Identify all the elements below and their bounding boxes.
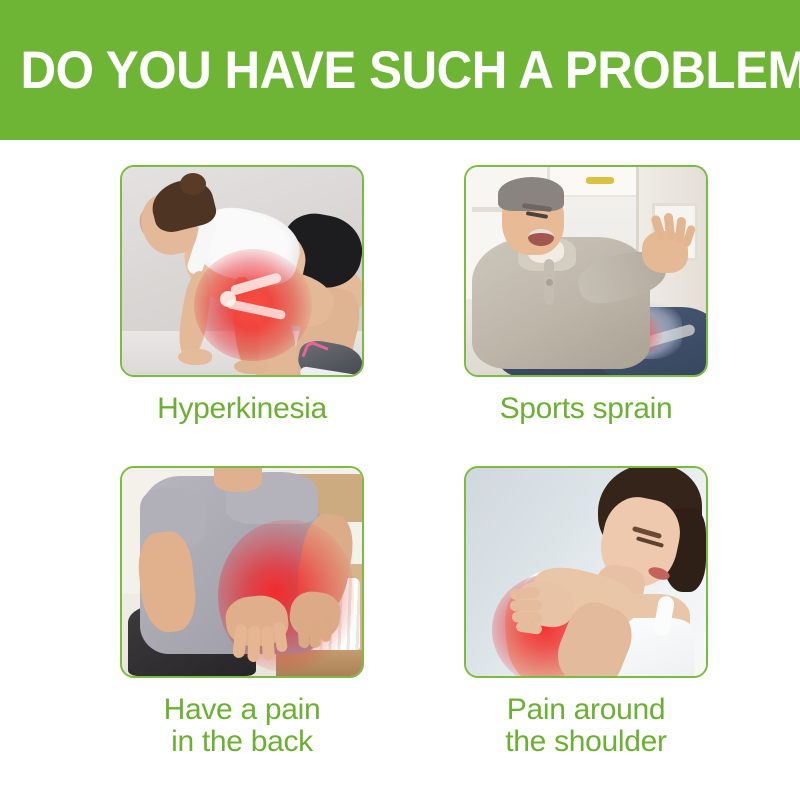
photo-frame — [120, 466, 364, 678]
card-label-line2: in the back — [70, 726, 414, 758]
card-label: Have a pain in the back — [70, 694, 414, 758]
photo-frame — [464, 466, 708, 678]
problem-card-back-pain: Have a pain in the back — [70, 466, 414, 758]
page-title: DO YOU HAVE SUCH A PROBLEM? — [0, 44, 744, 97]
photo-frame — [464, 165, 708, 377]
card-label: Pain around the shoulder — [414, 694, 758, 758]
photo-woman-shoulder-pain — [466, 468, 706, 676]
card-label: Sports sprain — [414, 393, 758, 425]
card-label-line1: Have a pain — [164, 693, 321, 726]
photo-man-knee-sprain — [466, 167, 706, 375]
photo-runner-knee-pain — [122, 167, 362, 375]
problem-card-hyperkinesia: Hyperkinesia — [70, 165, 414, 425]
photo-man-lower-back-pain — [122, 468, 362, 676]
problem-card-shoulder-pain: Pain around the shoulder — [414, 466, 758, 758]
card-label-line1: Hyperkinesia — [157, 392, 327, 425]
infographic-page: DO YOU HAVE SUCH A PROBLEM? — [0, 0, 800, 800]
problem-card-sports-sprain: Sports sprain — [414, 165, 758, 425]
photo-frame — [120, 165, 364, 377]
card-label-line1: Pain around — [507, 693, 666, 726]
card-label-line2: the shoulder — [414, 726, 758, 758]
problem-card-grid: Hyperkinesia — [0, 140, 800, 800]
header-banner: DO YOU HAVE SUCH A PROBLEM? — [0, 0, 800, 140]
card-label: Hyperkinesia — [70, 393, 414, 425]
card-label-line1: Sports sprain — [500, 392, 673, 425]
